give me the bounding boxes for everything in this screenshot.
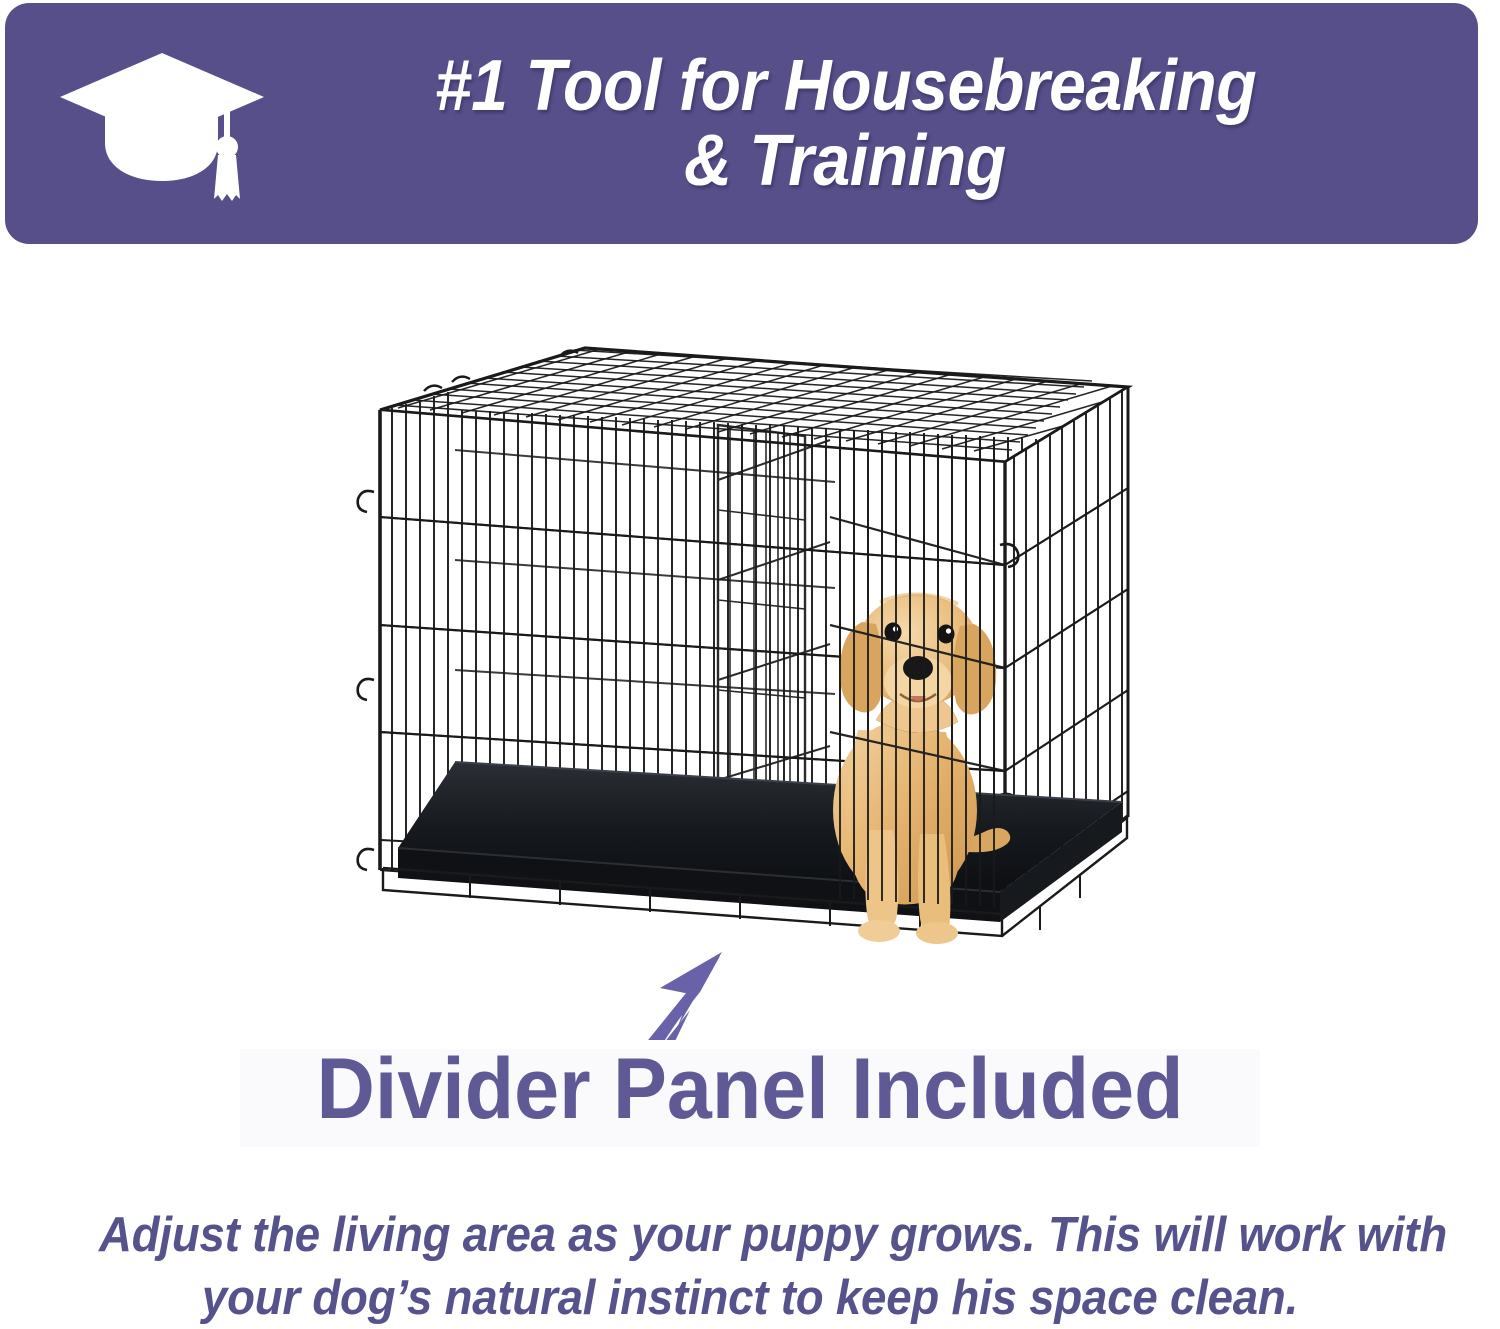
- banner-headline-line-1: #1 Tool for Housebreaking: [434, 49, 1256, 124]
- page-title: Divider Panel Included: [45, 1044, 1455, 1134]
- header-banner: #1 Tool for Housebreaking & Training: [5, 3, 1478, 244]
- product-photo: [0, 250, 1500, 1040]
- body-line-1: Adjust the living area as your puppy gro…: [99, 1204, 1401, 1267]
- banner-text-block: #1 Tool for Housebreaking & Training: [285, 3, 1405, 244]
- banner-headline-line-2: & Training: [684, 124, 1006, 199]
- body-description: Adjust the living area as your puppy gro…: [99, 1204, 1401, 1329]
- dog-crate-illustration: [0, 250, 1500, 1040]
- graduation-cap-icon: [50, 35, 280, 215]
- body-line-2: your dog’s natural instinct to keep his …: [99, 1267, 1401, 1329]
- side-clip-icon: [358, 491, 374, 870]
- divider-panel-arrow: [595, 952, 722, 1040]
